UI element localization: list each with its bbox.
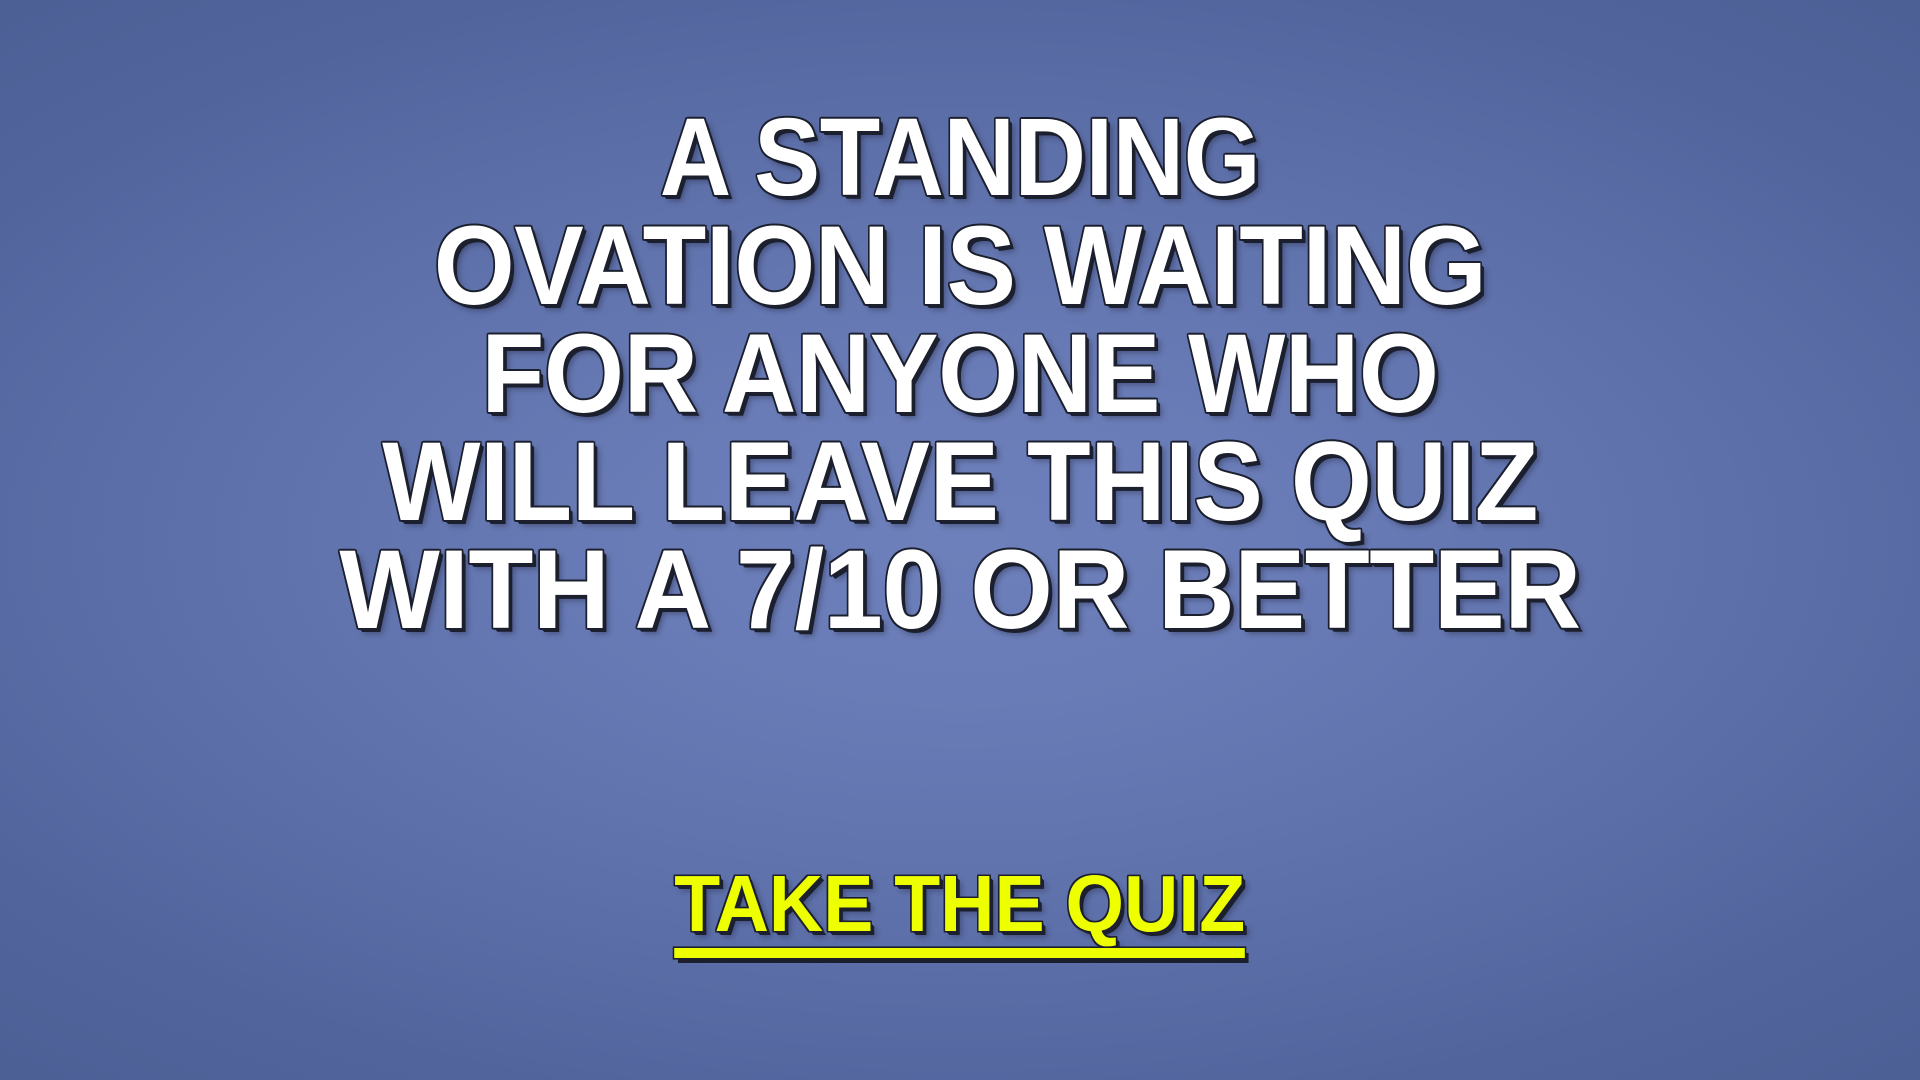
headline-block: A STANDING OVATION IS WAITING FOR ANYONE… [0, 104, 1920, 644]
headline-line-2: OVATION IS WAITING [67, 212, 1853, 320]
headline-line-1: A STANDING [96, 104, 1824, 212]
take-the-quiz-link[interactable]: TAKE THE QUIZ [675, 862, 1246, 946]
headline-line-5: WITH A 7/10 OR BETTER [48, 536, 1872, 644]
headline-line-4: WILL LEAVE THIS QUIZ [67, 428, 1853, 536]
cta-container: TAKE THE QUIZ [0, 862, 1920, 946]
cta-underline [675, 948, 1246, 958]
promo-card: A STANDING OVATION IS WAITING FOR ANYONE… [0, 0, 1920, 1080]
cta-label: TAKE THE QUIZ [675, 859, 1246, 948]
headline-line-3: FOR ANYONE WHO [77, 320, 1843, 428]
